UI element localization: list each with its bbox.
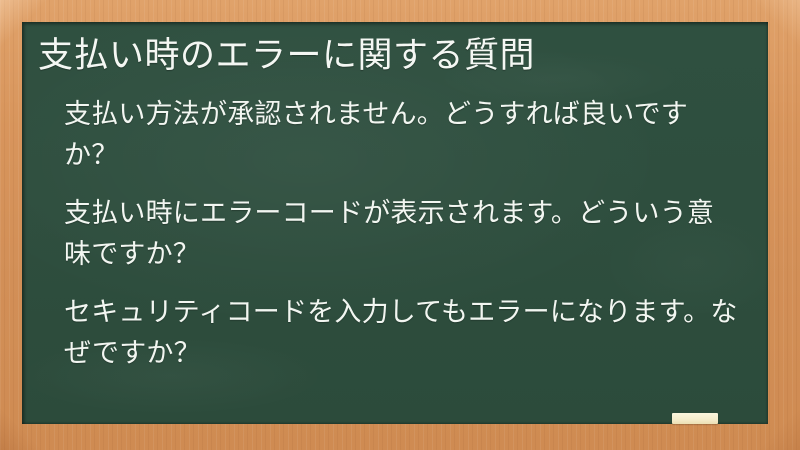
board-content: 支払い時のエラーに関する質問 支払い方法が承認されません。どうすれば良いですか？… [30,22,760,424]
chalkboard-surface: 支払い時のエラーに関する質問 支払い方法が承認されません。どうすれば良いですか？… [22,22,768,424]
chalk-stick [672,413,718,424]
page-title: 支払い時のエラーに関する質問 [38,34,750,78]
question-list: 支払い方法が承認されません。どうすれば良いですか？ 支払い時にエラーコードが表示… [64,94,738,374]
list-item: 支払い時にエラーコードが表示されます。どういう意味ですか？ [64,193,738,275]
list-item: セキュリティコードを入力してもエラーになります。なぜですか？ [64,292,738,374]
blackboard-frame: 支払い時のエラーに関する質問 支払い方法が承認されません。どうすれば良いですか？… [0,0,800,450]
list-item: 支払い方法が承認されません。どうすれば良いですか？ [64,94,738,176]
